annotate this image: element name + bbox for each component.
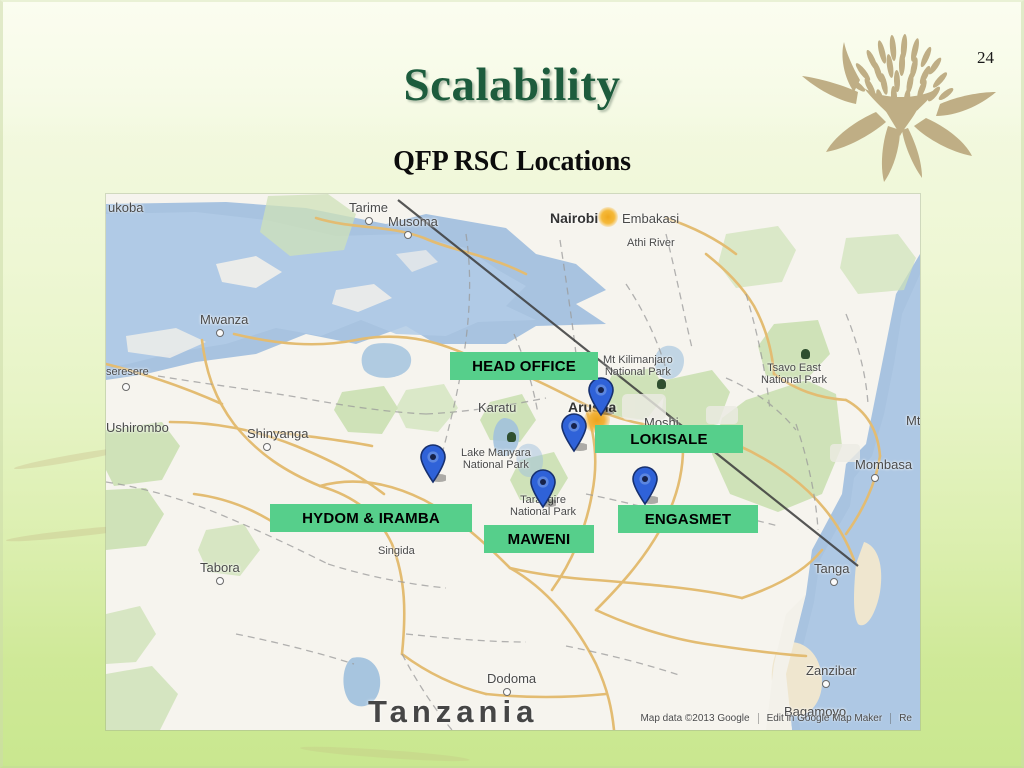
- background-leaf-streak-3: [300, 744, 470, 764]
- slide-number: 24: [977, 48, 994, 68]
- map-city-dot: [822, 680, 830, 688]
- slide-subtitle: QFP RSC Locations: [0, 146, 1024, 178]
- map-city-dot: [503, 688, 511, 696]
- map-park-icon: [538, 486, 547, 496]
- map-city-dot: [871, 474, 879, 482]
- map-nairobi-marker: [598, 207, 618, 227]
- map-park-icon: [801, 349, 810, 359]
- map-callout-hydom-iramba[interactable]: HYDOM & IRAMBA: [270, 504, 472, 532]
- map-park-icon: [657, 379, 666, 389]
- slide: Scalability QFP RSC Locations 24: [0, 0, 1024, 768]
- map-city-dot: [122, 383, 130, 391]
- map-callout-engasmet[interactable]: ENGASMET: [618, 505, 758, 533]
- page-title: Scalability: [0, 58, 1024, 112]
- map-city-dot: [263, 443, 271, 451]
- map-city-dot: [830, 578, 838, 586]
- map-callout-head-office[interactable]: HEAD OFFICE: [450, 352, 598, 380]
- map-city-dot: [216, 329, 224, 337]
- map-city-dot: [365, 217, 373, 225]
- map-image[interactable]: ukobaMusomaTarimeMwanzaNairobiEmbakasiAt…: [106, 194, 920, 730]
- map-city-dot: [404, 231, 412, 239]
- map-callout-maweni[interactable]: MAWENI: [484, 525, 594, 553]
- map-city-dot: [216, 577, 224, 585]
- map-base-graphics: [106, 194, 920, 730]
- map-park-icon: [507, 432, 516, 442]
- map-callout-lokisale[interactable]: LOKISALE: [595, 425, 743, 453]
